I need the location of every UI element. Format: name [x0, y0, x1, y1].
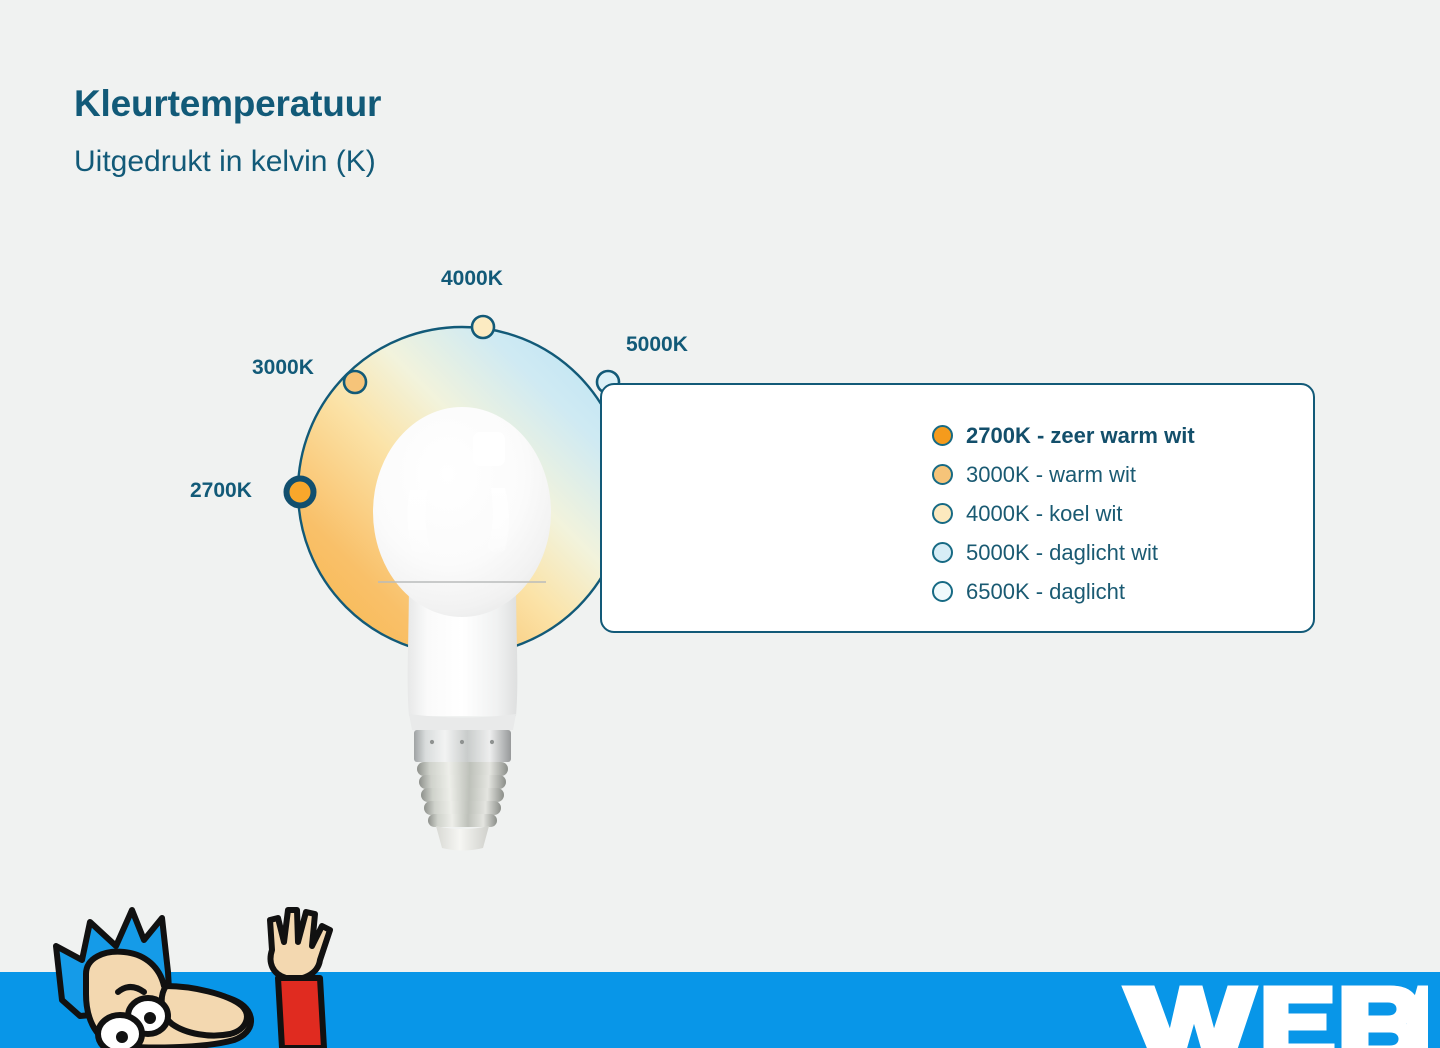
bulb-screw-threads	[417, 762, 508, 827]
marker-3000k[interactable]	[344, 371, 366, 393]
weba-logo-icon	[1118, 978, 1428, 1048]
legend-label-6500k: 6500K - daglicht	[966, 579, 1125, 605]
legend-dot-6500k-icon	[932, 581, 953, 602]
mascot-icon	[20, 898, 380, 1048]
legend-dot-3000k-icon	[932, 464, 953, 485]
arc-label-3000k: 3000K	[252, 356, 314, 380]
legend-dot-5000k-icon	[932, 542, 953, 563]
legend-dot-4000k-icon	[932, 503, 953, 524]
legend-list: 2700K - zeer warm wit 3000K - warm wit 4…	[932, 416, 1312, 611]
legend-label-5000k: 5000K - daglicht wit	[966, 540, 1158, 566]
arc-label-2700k: 2700K	[190, 479, 252, 503]
marker-2700k[interactable]	[287, 479, 314, 506]
legend-label-4000k: 4000K - koel wit	[966, 501, 1123, 527]
legend-item-2700k[interactable]: 2700K - zeer warm wit	[932, 416, 1312, 455]
legend-label-3000k: 3000K - warm wit	[966, 462, 1136, 488]
legend-label-2700k: 2700K - zeer warm wit	[966, 423, 1195, 449]
legend-item-3000k[interactable]: 3000K - warm wit	[932, 455, 1312, 494]
arc-label-5000k: 5000K	[626, 333, 688, 357]
legend-item-6500k[interactable]: 6500K - daglicht	[932, 572, 1312, 611]
legend-item-4000k[interactable]: 4000K - koel wit	[932, 494, 1312, 533]
infographic-canvas: Kleurtemperatuur Uitgedrukt in kelvin (K…	[0, 0, 1440, 1048]
legend-dot-2700k-icon	[932, 425, 953, 446]
arc-label-4000k: 4000K	[441, 267, 503, 291]
legend-item-5000k[interactable]: 5000K - daglicht wit	[932, 533, 1312, 572]
marker-4000k[interactable]	[472, 316, 494, 338]
